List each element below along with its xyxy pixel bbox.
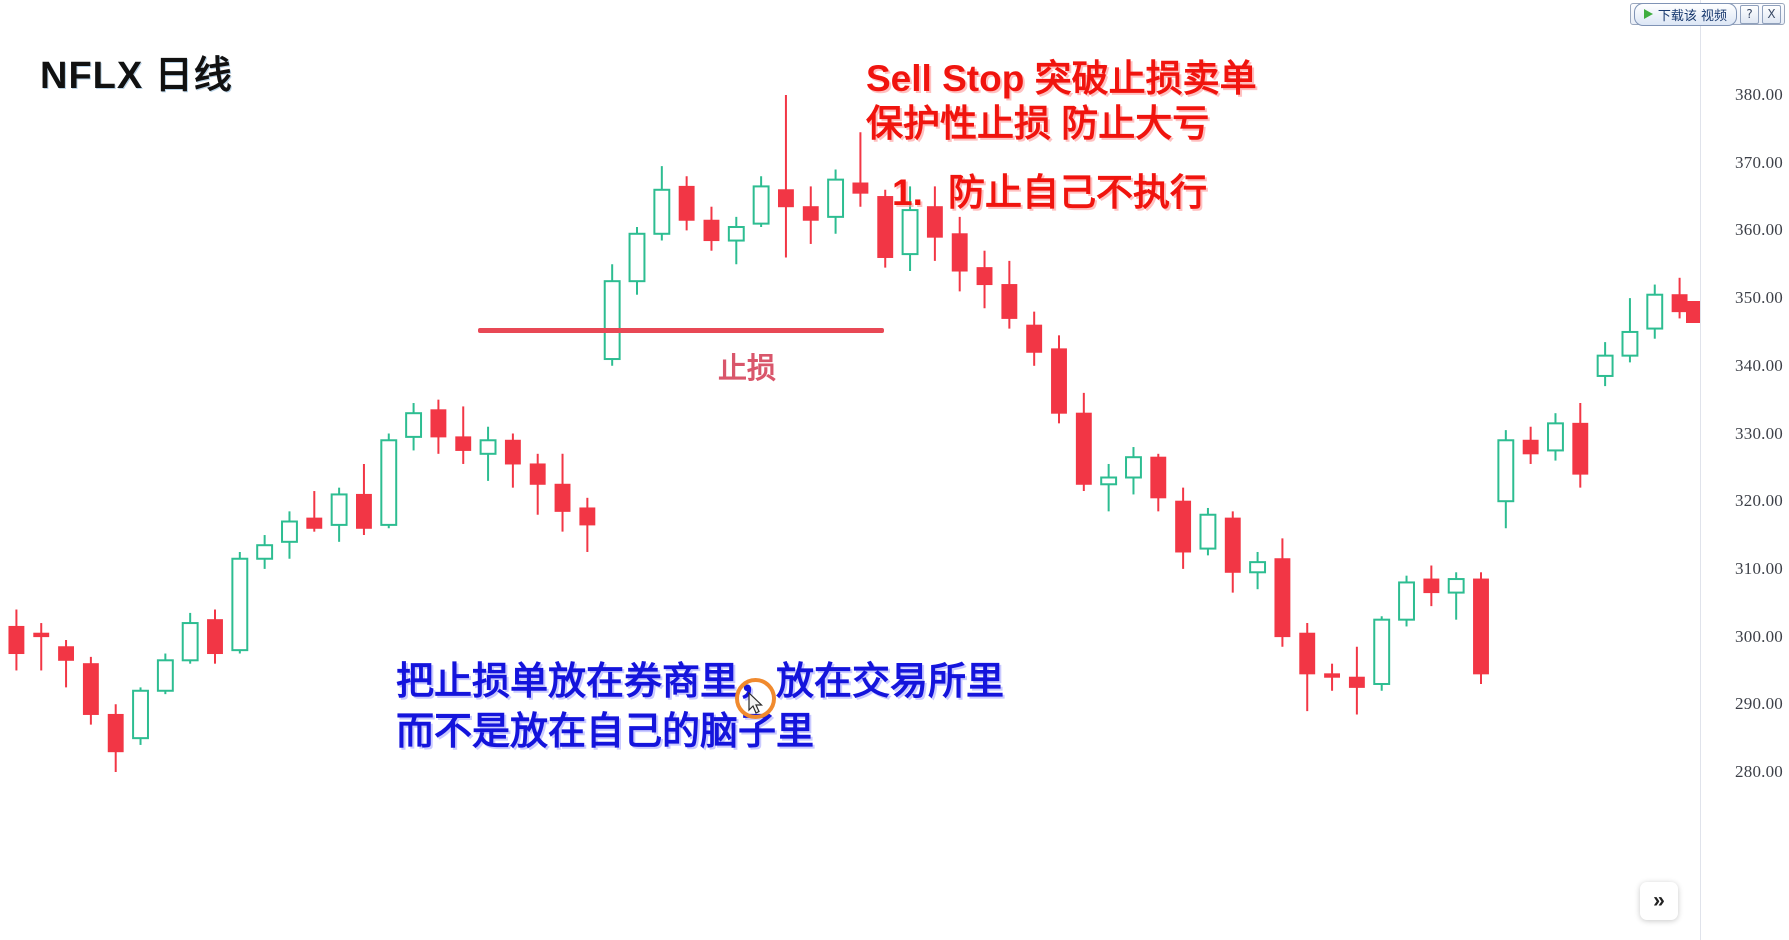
candlestick <box>1449 572 1464 619</box>
candlestick <box>158 654 173 695</box>
candlestick <box>232 552 247 654</box>
candlestick <box>1672 278 1687 319</box>
candlestick <box>828 169 843 233</box>
annotation-red-line2: 保护性止损 防止大亏 <box>866 101 1257 146</box>
annotation-blue-line2: 而不是放在自己的脑子里 <box>396 707 1004 757</box>
candlestick <box>183 613 198 664</box>
candlestick <box>1151 454 1166 512</box>
candlestick <box>803 186 818 244</box>
price-tick: 290.00 <box>1735 694 1783 714</box>
candlestick <box>83 657 98 725</box>
candlestick <box>654 166 669 240</box>
candlestick <box>1548 413 1563 460</box>
price-tick: 380.00 <box>1735 85 1783 105</box>
candlestick <box>332 488 347 542</box>
candlestick <box>1622 298 1637 362</box>
candlestick <box>505 434 520 488</box>
candlestick <box>1647 285 1662 339</box>
candlestick <box>1076 393 1091 491</box>
candlestick <box>1176 488 1191 569</box>
mouse-pointer-icon <box>748 692 764 714</box>
candlestick <box>1424 566 1439 607</box>
candlestick <box>1349 647 1364 715</box>
candlestick <box>754 176 769 227</box>
price-axis[interactable]: 380.00370.00360.00350.00340.00330.00320.… <box>1700 0 1789 940</box>
candlestick <box>1225 511 1240 592</box>
price-tick: 310.00 <box>1735 559 1783 579</box>
candlestick <box>1573 403 1588 488</box>
annotation-blue-line1: 把止损单放在券商里，放在交易所里 <box>396 657 1004 707</box>
candlestick <box>208 610 223 664</box>
candlestick <box>1523 427 1538 464</box>
candlestick <box>1275 538 1290 646</box>
candlestick <box>704 207 719 251</box>
candlestick <box>1002 261 1017 329</box>
chart-title: NFLX 日线 <box>40 44 233 99</box>
candlestick <box>1474 572 1489 684</box>
candlestick <box>1498 430 1513 528</box>
candlestick <box>778 95 793 257</box>
candlestick <box>456 406 471 464</box>
candlestick <box>679 176 694 230</box>
price-tick: 370.00 <box>1735 153 1783 173</box>
candlestick <box>555 454 570 532</box>
candlestick-series <box>0 0 1700 925</box>
candlestick <box>580 498 595 552</box>
candlestick <box>108 704 123 772</box>
annotation-red-block: Sell Stop 突破止损卖单 保护性止损 防止大亏 1.防止自己不执行 <box>866 56 1257 215</box>
candlestick <box>257 535 272 569</box>
price-tick: 360.00 <box>1735 220 1783 240</box>
candlestick <box>1052 335 1067 423</box>
candlestick <box>481 427 496 481</box>
download-video-toolbar[interactable]: 下载该 视频 ? X <box>1630 3 1785 25</box>
candlestick <box>1325 664 1340 691</box>
candlestick <box>1598 342 1613 386</box>
annotation-red-item-text: 防止自己不执行 <box>948 172 1207 213</box>
annotation-red-list-item: 1.防止自己不执行 <box>866 170 1257 215</box>
annotation-red-line1: Sell Stop 突破止损卖单 <box>866 56 1257 101</box>
candlestick <box>630 227 645 295</box>
close-icon[interactable]: X <box>1762 5 1781 24</box>
play-icon <box>1644 9 1653 19</box>
price-tick: 350.00 <box>1735 288 1783 308</box>
download-video-button[interactable]: 下载该 视频 <box>1634 3 1737 26</box>
candlestick <box>381 434 396 529</box>
candlestick <box>307 491 322 532</box>
candlestick <box>9 610 24 671</box>
candlestick <box>605 264 620 366</box>
trading-chart-screenshot: 止损 NFLX 日线 Sell Stop 突破止损卖单 保护性止损 防止大亏 1… <box>0 0 1789 940</box>
candlestick <box>977 251 992 309</box>
candlestick <box>34 623 49 670</box>
candlestick <box>1300 623 1315 711</box>
stop-loss-label: 止损 <box>718 345 776 387</box>
candlestick <box>282 511 297 558</box>
price-tick: 300.00 <box>1735 627 1783 647</box>
candlestick <box>356 464 371 535</box>
candlestick <box>431 400 446 454</box>
price-tick: 320.00 <box>1735 491 1783 511</box>
candlestick <box>1027 312 1042 366</box>
candlestick <box>133 687 148 745</box>
candlestick <box>59 640 74 687</box>
candlestick <box>406 403 421 450</box>
candlestick <box>1399 576 1414 627</box>
candlestick <box>1200 508 1215 555</box>
help-icon[interactable]: ? <box>1740 5 1759 24</box>
candlestick <box>1126 447 1141 494</box>
price-tick: 280.00 <box>1735 762 1783 782</box>
candlestick <box>1374 616 1389 690</box>
candlestick <box>1250 552 1265 589</box>
last-price-marker <box>1686 301 1700 323</box>
annotation-blue-block: 把止损单放在券商里，放在交易所里 而不是放在自己的脑子里 <box>396 657 1004 757</box>
annotation-red-item-number: 1. <box>892 170 948 215</box>
price-tick: 330.00 <box>1735 424 1783 444</box>
price-tick: 340.00 <box>1735 356 1783 376</box>
scroll-to-realtime-button[interactable]: » <box>1640 882 1678 920</box>
stop-loss-line[interactable] <box>478 328 884 333</box>
candlestick <box>952 217 967 291</box>
candlestick <box>530 454 545 515</box>
candlestick <box>729 217 744 264</box>
download-video-label: 下载该 视频 <box>1658 5 1727 24</box>
chart-plot-area[interactable] <box>0 0 1700 925</box>
candlestick <box>1101 464 1116 511</box>
